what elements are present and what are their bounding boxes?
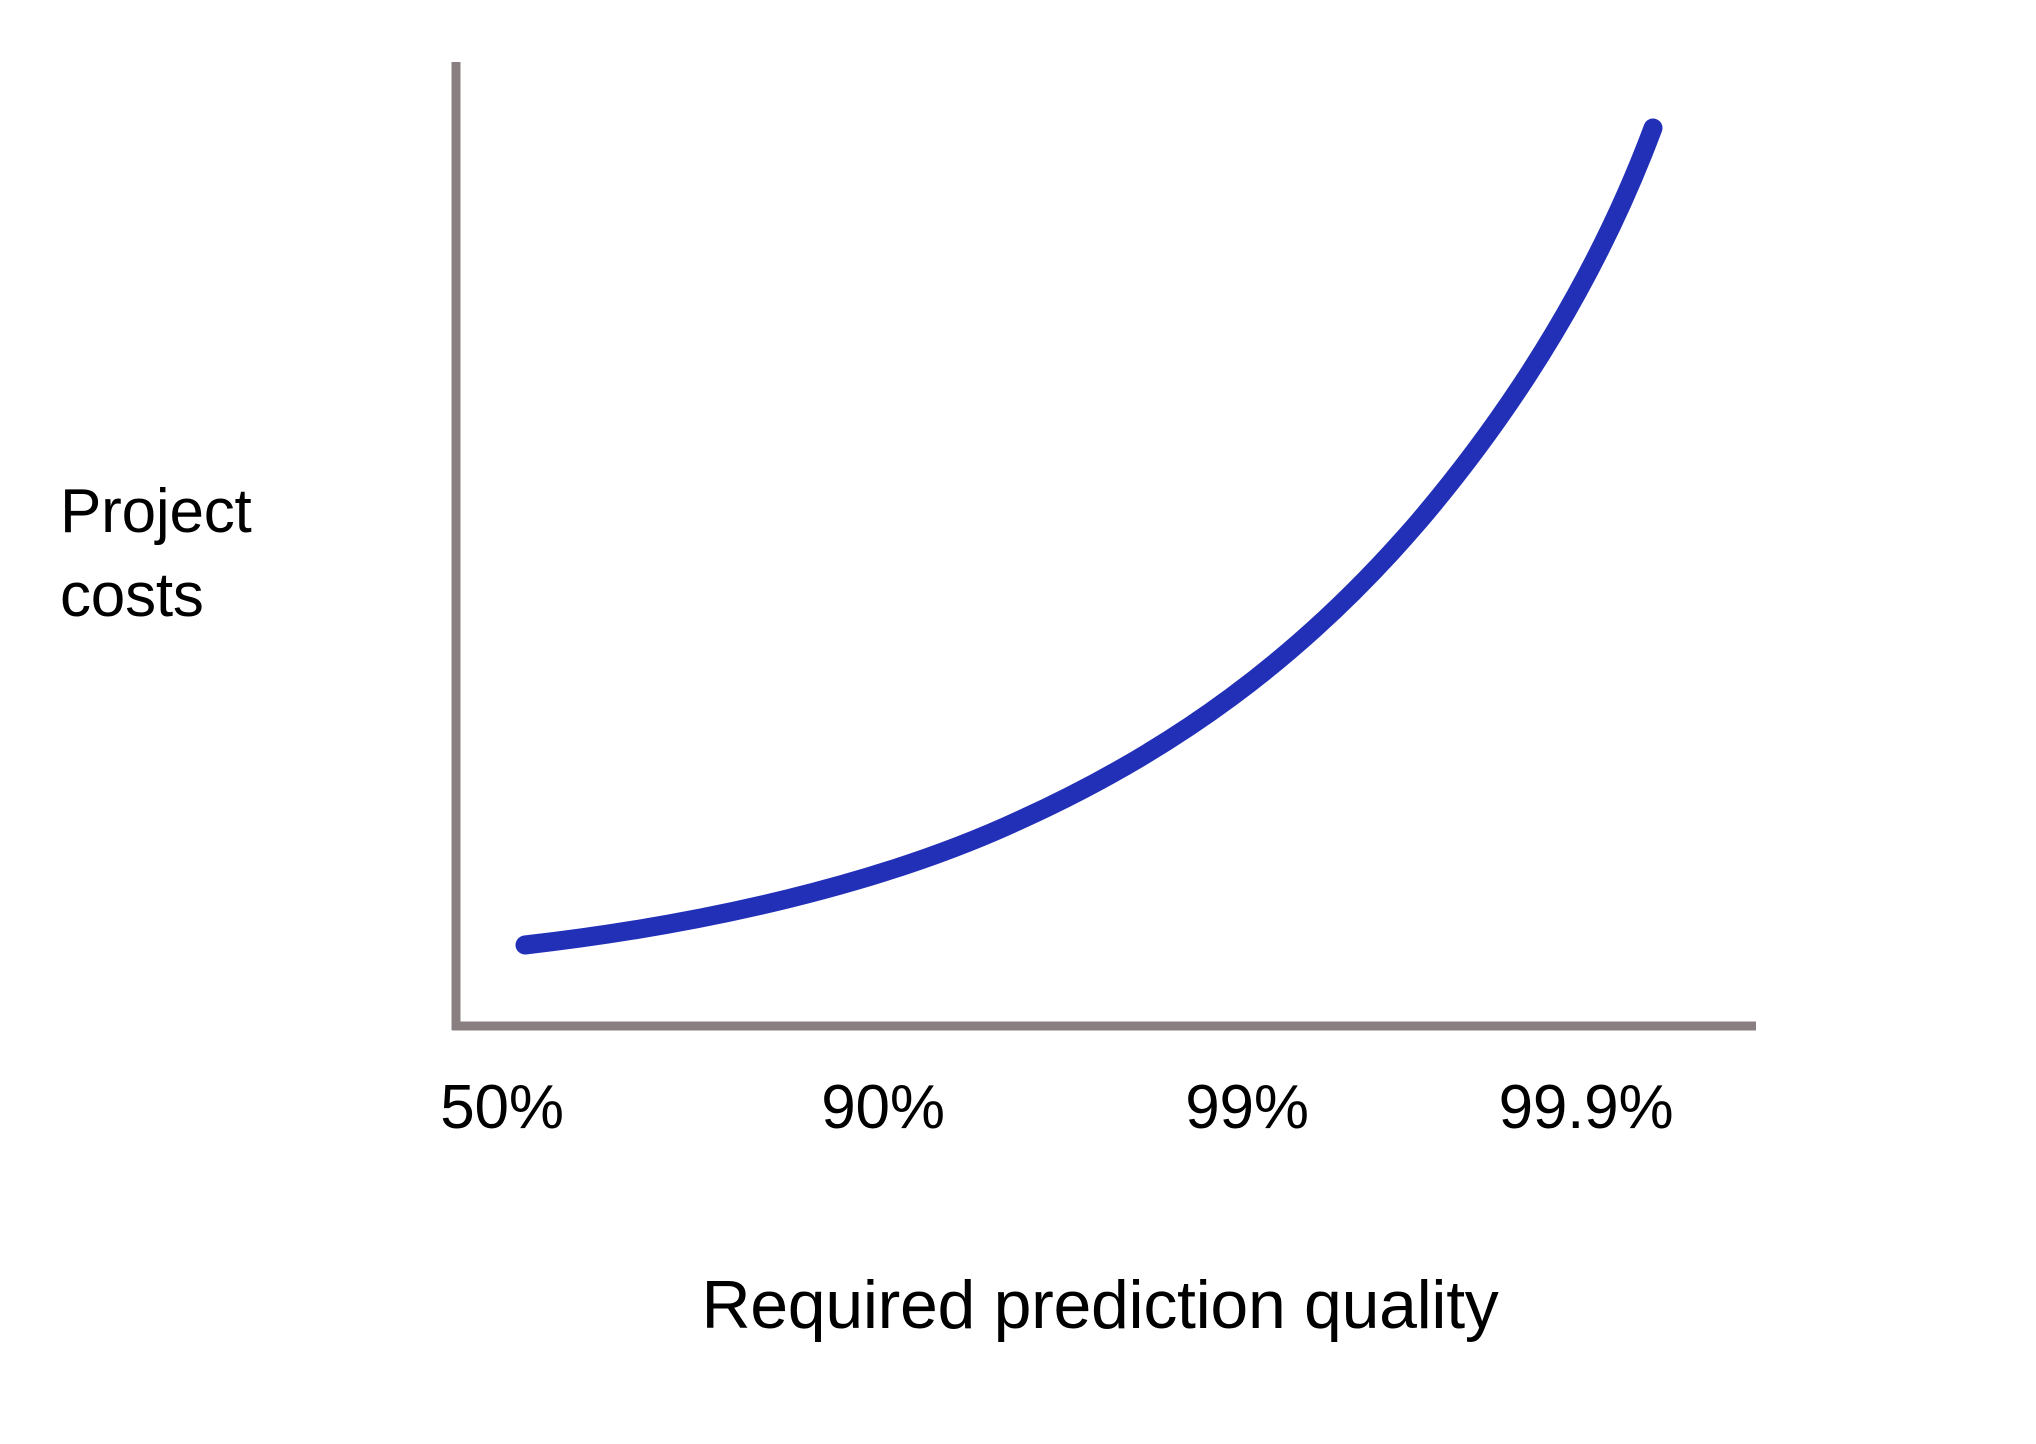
chart-figure: Project costs 50% 90% 99% 99.9% Required… (0, 0, 2036, 1444)
x-tick-label-90: 90% (733, 1072, 1033, 1144)
x-tick-label-99-9: 99.9% (1406, 1072, 1766, 1144)
x-axis-title: Required prediction quality (400, 1265, 1800, 1345)
plot-area (0, 0, 2036, 1444)
cost-curve-line (525, 128, 1653, 945)
x-tick-label-50: 50% (352, 1072, 652, 1144)
x-tick-label-99: 99% (1097, 1072, 1397, 1144)
